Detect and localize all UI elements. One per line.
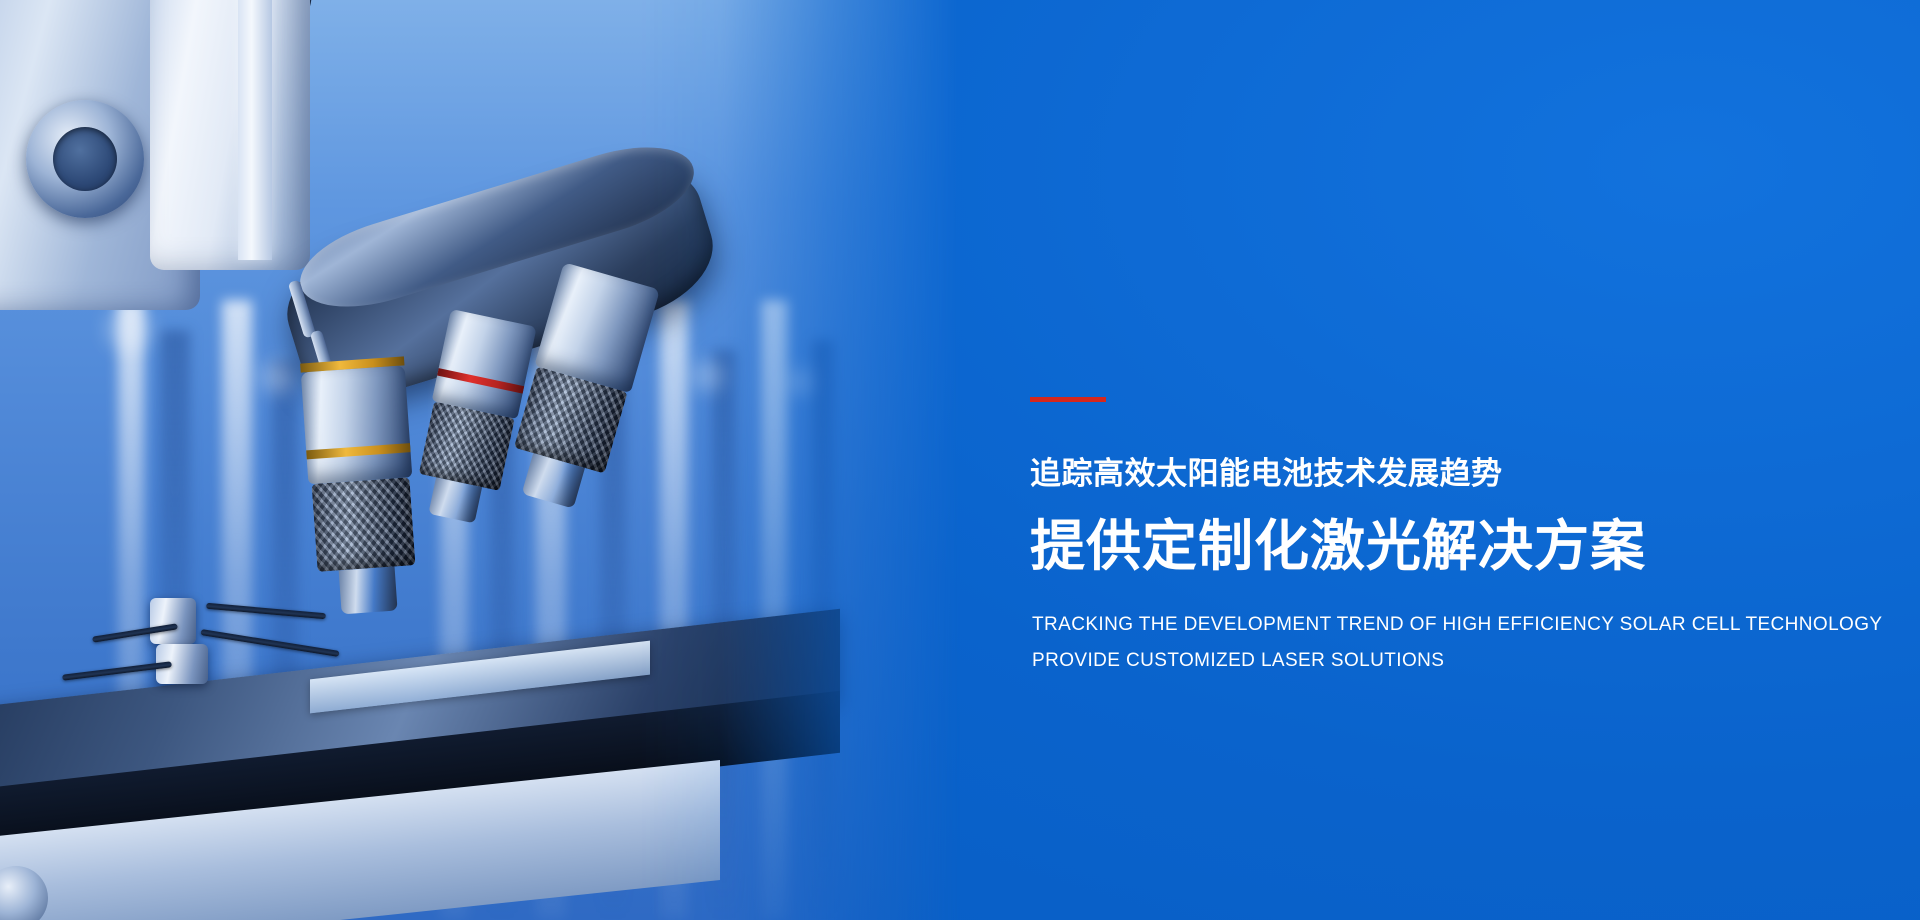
objective-knurled-grip xyxy=(312,477,416,572)
objective-knurled-grip xyxy=(419,401,515,490)
accent-rule xyxy=(1030,397,1106,402)
coarse-focus-knob xyxy=(26,100,144,218)
objective-front-lens xyxy=(339,567,398,615)
objective-color-ring xyxy=(306,443,410,459)
objective-color-ring xyxy=(437,368,524,394)
hero-english-line-1: TRACKING THE DEVELOPMENT TREND OF HIGH E… xyxy=(1032,614,1882,636)
bokeh-highlight xyxy=(786,368,814,396)
body-tube xyxy=(150,0,310,270)
objective-barrel xyxy=(301,365,413,484)
page-title: 提供定制化激光解决方案 xyxy=(1030,514,1850,579)
bokeh-highlight xyxy=(260,360,294,394)
focus-rail xyxy=(238,0,272,260)
microscope-photo xyxy=(0,0,1060,920)
hero-kicker: 追踪高效太阳能电池技术发展趋势 xyxy=(1030,455,1850,492)
light-beam xyxy=(762,300,788,920)
knob-screw xyxy=(76,150,94,168)
stage-clip-post xyxy=(150,598,196,644)
bokeh-highlight xyxy=(106,306,152,352)
hero-banner: 追踪高效太阳能电池技术发展趋势 提供定制化激光解决方案 TRACKING THE… xyxy=(0,0,1920,920)
objective-lens xyxy=(300,356,421,616)
bokeh-highlight xyxy=(692,360,724,392)
hero-copy: 追踪高效太阳能电池技术发展趋势 提供定制化激光解决方案 TRACKING THE… xyxy=(1030,0,1890,920)
hero-english-line-2: PROVIDE CUSTOMIZED LASER SOLUTIONS xyxy=(1032,650,1444,672)
